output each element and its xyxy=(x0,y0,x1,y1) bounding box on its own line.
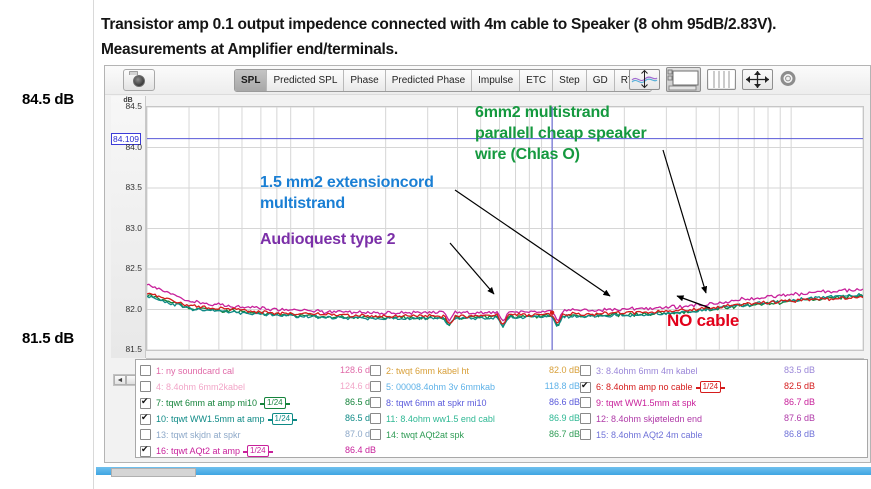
gutter-top-label: 84.5 dB xyxy=(22,91,74,108)
y-tick: 82.5 xyxy=(125,263,142,273)
legend-row[interactable]: 12: 8.4ohm skjøteledn end xyxy=(580,413,702,424)
annotation-no-cable: NO cable xyxy=(667,310,739,331)
legend-checkbox[interactable] xyxy=(580,382,591,393)
legend-label: 11: 8.4ohm ww1.5 end cabl xyxy=(386,414,495,424)
legend-value: 86.6 dB xyxy=(520,397,580,407)
legend-value: 86.4 dB xyxy=(316,445,376,455)
y-tick: 83.0 xyxy=(125,223,142,233)
legend-label: 15: 8.4ohm AQt2 4m cable xyxy=(596,430,703,440)
smoothing-badge[interactable]: 1/24 xyxy=(272,413,294,425)
annotation-purple-wire: Audioquest type 2 xyxy=(260,229,395,250)
bottom-bar-thumb[interactable] xyxy=(111,468,196,477)
legend-row[interactable]: 11: 8.4ohm ww1.5 end cabl xyxy=(370,413,495,424)
bottom-blue-bar xyxy=(96,467,871,475)
legend-value: 87.6 dB xyxy=(755,413,815,423)
window-controls-icon[interactable] xyxy=(666,67,701,92)
legend-label: 12: 8.4ohm skjøteledn end xyxy=(596,414,702,424)
legend-label: 16: tqwt AQt2 at amp xyxy=(156,446,240,456)
legend-checkbox[interactable] xyxy=(370,381,381,392)
legend-label: 7: tqwt 6mm at amp mi10 xyxy=(156,398,257,408)
legend-label: 13: tqwt skjdn at spkr xyxy=(156,430,241,440)
tab-etc[interactable]: ETC xyxy=(520,70,553,91)
gutter-bottom-label: 81.5 dB xyxy=(22,330,74,347)
legend-row[interactable]: 9: tqwt WW1.5mm at spk xyxy=(580,397,696,408)
move-crosshair-icon[interactable] xyxy=(742,69,773,90)
legend-row[interactable]: 16: tqwt AQt2 at amp1/24 xyxy=(140,445,269,457)
legend-checkbox[interactable] xyxy=(580,413,591,424)
legend-label: 5: 00008.4ohm 3v 6mmkab xyxy=(386,382,495,392)
legend-row[interactable]: 13: tqwt skjdn at spkr xyxy=(140,429,241,440)
legend-row[interactable]: 3: 8.4ohm 6mm 4m kabel xyxy=(580,365,698,376)
legend-checkbox[interactable] xyxy=(140,414,151,425)
legend-row[interactable]: 4: 8.4ohm 6mm2kabel xyxy=(140,381,245,392)
legend-value: 118.8 dB xyxy=(520,381,580,391)
tab-predicted-phase[interactable]: Predicted Phase xyxy=(386,70,472,91)
legend-value: 86.5 dB xyxy=(316,413,376,423)
tab-gd[interactable]: GD xyxy=(587,70,615,91)
legend-label: 14: twqt AQt2at spk xyxy=(386,430,464,440)
y-tick: 84.5 xyxy=(125,101,142,111)
camera-icon[interactable] xyxy=(123,69,155,91)
legend-checkbox[interactable] xyxy=(370,429,381,440)
legend-row[interactable]: 14: twqt AQt2at spk xyxy=(370,429,464,440)
legend-label: 10: tqwt WW1.5mm at amp xyxy=(156,414,265,424)
page-divider xyxy=(93,0,94,489)
waveform-limits-icon[interactable] xyxy=(629,69,660,90)
legend-value: 82.5 dB xyxy=(755,381,815,391)
legend-checkbox[interactable] xyxy=(580,429,591,440)
measurement-legend-panel: 1: ny soundcard cal128.6 dB4: 8.4ohm 6mm… xyxy=(135,359,868,458)
legend-label: 8: tqwt 6mm at spkr mi10 xyxy=(386,398,487,408)
smoothing-badge[interactable]: 1/24 xyxy=(700,381,722,393)
vertical-bars-icon[interactable] xyxy=(707,69,736,90)
legend-value: 124.6 dB xyxy=(316,381,376,391)
legend-value: 86.7 dB xyxy=(755,397,815,407)
legend-row[interactable]: 15: 8.4ohm AQt2 4m cable xyxy=(580,429,703,440)
legend-value: 82.0 dB xyxy=(520,365,580,375)
legend-row[interactable]: 6: 8.4ohm amp no cable1/24 xyxy=(580,381,721,393)
annotation-green-wire: 6mm2 multistrand parallell cheap speaker… xyxy=(475,102,647,165)
legend-checkbox[interactable] xyxy=(370,397,381,408)
legend-checkbox[interactable] xyxy=(140,381,151,392)
measurement-tab-group[interactable]: SPLPredicted SPLPhasePredicted PhaseImpu… xyxy=(234,69,652,92)
tab-impulse[interactable]: Impulse xyxy=(472,70,520,91)
toolbar: SPLPredicted SPLPhasePredicted PhaseImpu… xyxy=(105,66,870,95)
legend-row[interactable]: 1: ny soundcard cal xyxy=(140,365,234,376)
tab-spl[interactable]: SPL xyxy=(235,70,267,91)
screenshot-root: 84.5 dB 81.5 dB Transistor amp 0.1 outpu… xyxy=(0,0,871,489)
legend-row[interactable]: 7: tqwt 6mm at amp mi101/24 xyxy=(140,397,286,409)
gear-icon[interactable] xyxy=(779,69,797,90)
legend-row[interactable]: 10: tqwt WW1.5mm at amp1/24 xyxy=(140,413,293,425)
y-tick: 82.0 xyxy=(125,304,142,314)
page-title: Transistor amp 0.1 output impedence conn… xyxy=(101,12,863,62)
legend-value: 86.5 dB xyxy=(316,397,376,407)
legend-checkbox[interactable] xyxy=(370,413,381,424)
legend-checkbox[interactable] xyxy=(140,398,151,409)
legend-row[interactable]: 2: twqt 6mm kabel ht xyxy=(370,365,469,376)
legend-checkbox[interactable] xyxy=(580,365,591,376)
legend-value: 86.9 dB xyxy=(520,413,580,423)
legend-value: 86.8 dB xyxy=(755,429,815,439)
y-tick: 81.5 xyxy=(125,344,142,354)
smoothing-badge[interactable]: 1/24 xyxy=(264,397,286,409)
legend-checkbox[interactable] xyxy=(140,446,151,457)
camera-lens xyxy=(133,75,145,87)
legend-value: 86.7 dB xyxy=(520,429,580,439)
legend-label: 6: 8.4ohm amp no cable xyxy=(596,382,693,392)
legend-value: 128.6 dB xyxy=(316,365,376,375)
legend-checkbox[interactable] xyxy=(140,429,151,440)
scroll-left-arrow[interactable]: ◄ xyxy=(114,375,126,385)
legend-label: 9: tqwt WW1.5mm at spk xyxy=(596,398,696,408)
legend-label: 2: twqt 6mm kabel ht xyxy=(386,366,469,376)
tab-predicted-spl[interactable]: Predicted SPL xyxy=(267,70,344,91)
annotation-blue-wire: 1.5 mm2 extensioncord multistrand xyxy=(260,172,434,214)
legend-value: 83.5 dB xyxy=(755,365,815,375)
y-axis: dB 84.109 84.584.083.583.082.582.081.5 xyxy=(111,96,146,358)
legend-label: 4: 8.4ohm 6mm2kabel xyxy=(156,382,245,392)
legend-label: 1: ny soundcard cal xyxy=(156,366,234,376)
legend-row[interactable]: 8: tqwt 6mm at spkr mi10 xyxy=(370,397,487,408)
y-tick: 83.5 xyxy=(125,182,142,192)
tab-phase[interactable]: Phase xyxy=(344,70,385,91)
legend-label: 3: 8.4ohm 6mm 4m kabel xyxy=(596,366,698,376)
legend-checkbox[interactable] xyxy=(370,365,381,376)
tab-step[interactable]: Step xyxy=(553,70,587,91)
legend-row[interactable]: 5: 00008.4ohm 3v 6mmkab xyxy=(370,381,495,392)
legend-checkbox[interactable] xyxy=(580,397,591,408)
smoothing-badge[interactable]: 1/24 xyxy=(247,445,269,457)
y-tick: 84.0 xyxy=(125,142,142,152)
legend-value: 87.0 dB xyxy=(316,429,376,439)
legend-grid: 1: ny soundcard cal128.6 dB4: 8.4ohm 6mm… xyxy=(140,363,864,458)
legend-checkbox[interactable] xyxy=(140,365,151,376)
